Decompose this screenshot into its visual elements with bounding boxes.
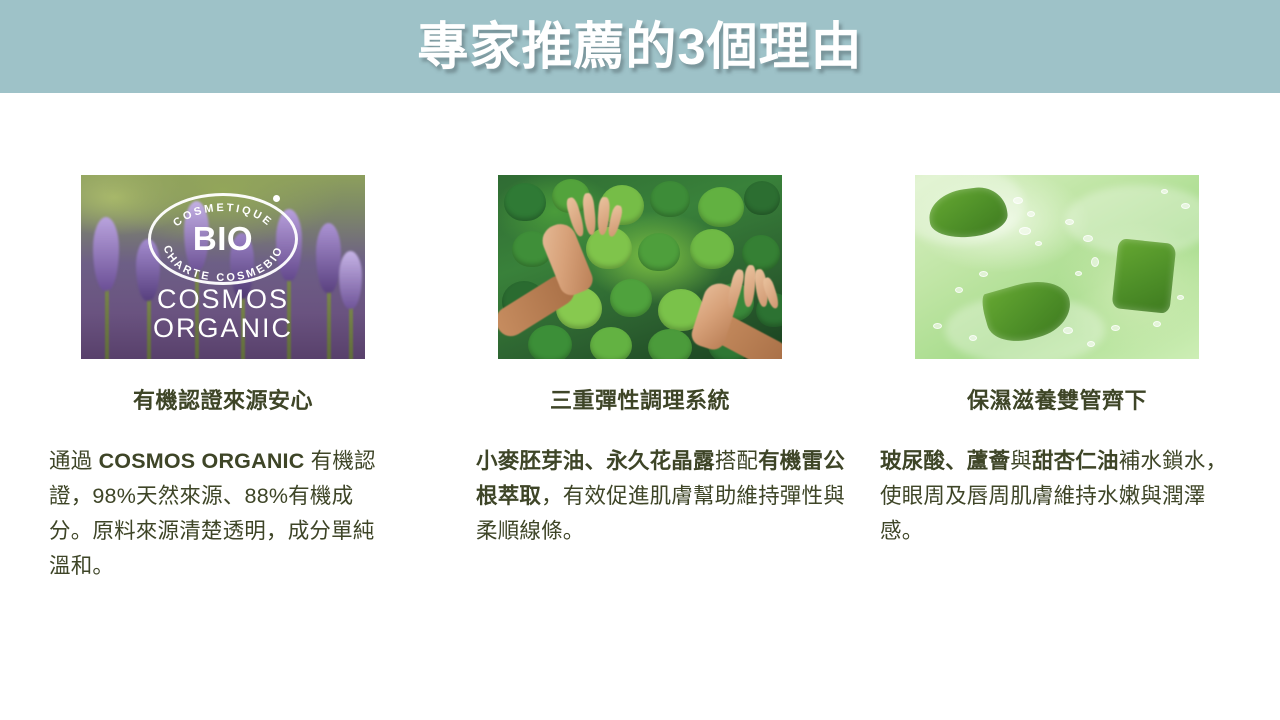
header-band: 專家推薦的3個理由 [0,0,1280,93]
cosmos-caption-line-1: COSMOS [81,285,365,314]
benefit-body-1: 通過 COSMOS ORGANIC 有機認證，98%天然來源、88%有機成分。原… [49,444,379,583]
aloe-vera-gel-image [915,175,1199,359]
slide-root: 專家推薦的3個理由 [0,0,1280,720]
page-title: 專家推薦的3個理由 [417,21,862,72]
aloe-slice-right [1112,238,1177,314]
benefit-columns: COSMETIQUE CHARTE COSMEBIO BIO COSMOS OR… [0,175,1280,584]
benefit-column-2: 三重彈性調理系統 小麥胚芽油、永久花晶露搭配有機雷公根萃取，有效促進肌膚幫助維持… [498,175,782,584]
benefit-column-1: COSMETIQUE CHARTE COSMEBIO BIO COSMOS OR… [81,175,365,584]
benefit-body-3: 玻尿酸、蘆薈與甜杏仁油補水鎖水，使眼周及唇周肌膚維持水嫩與潤澤感。 [880,444,1245,548]
benefit-heading-3: 保濕滋養雙管齊下 [915,388,1199,414]
benefit-column-3: 保濕滋養雙管齊下 玻尿酸、蘆薈與甜杏仁油補水鎖水，使眼周及唇周肌膚維持水嫩與潤澤… [915,175,1199,584]
seal-center-text: BIO [148,222,298,255]
cosmos-caption-line-2: ORGANIC [81,314,365,343]
cosmebio-bio-seal-icon: COSMETIQUE CHARTE COSMEBIO BIO [148,193,298,285]
benefit-body-2: 小麥胚芽油、永久花晶露搭配有機雷公根萃取，有效促進肌膚幫助維持彈性與柔順線條。 [476,444,848,548]
benefit-heading-2: 三重彈性調理系統 [498,388,782,414]
cosmos-organic-caption: COSMOS ORGANIC [81,285,365,343]
benefit-heading-1: 有機認證來源安心 [81,388,365,414]
gotu-kola-hands-image [498,175,782,359]
lavender-field-image: COSMETIQUE CHARTE COSMEBIO BIO COSMOS OR… [81,175,365,359]
